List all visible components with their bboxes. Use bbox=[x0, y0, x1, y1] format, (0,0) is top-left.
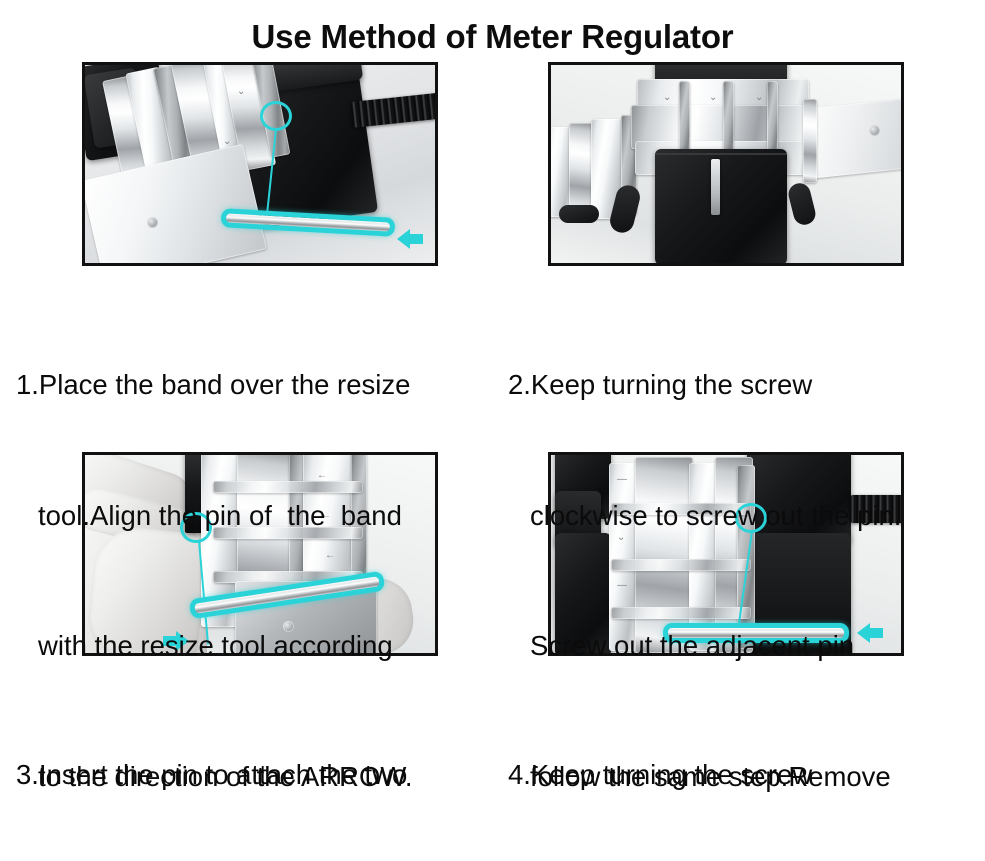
caption-line: 2.Keep turning the screw bbox=[508, 363, 985, 407]
link-stamp: ⌄ bbox=[709, 93, 717, 103]
pin-slot bbox=[711, 159, 720, 215]
link-stamp: ⌄ bbox=[755, 93, 763, 103]
caption-line: tool.Align the pin of the band bbox=[16, 494, 516, 538]
step-2-image: ⌄ ⌄ ⌄ bbox=[548, 62, 904, 266]
page-title: Use Method of Meter Regulator bbox=[0, 18, 985, 56]
tool-foot bbox=[559, 205, 599, 223]
clasp-screw-hole bbox=[147, 217, 158, 228]
caption-line: 4.Keep turning the screw bbox=[508, 753, 985, 797]
step-4-caption: 4.Keep turning the screw clockwise until… bbox=[508, 666, 985, 861]
arrow-tail bbox=[409, 234, 423, 244]
link-stamp: ⌄ bbox=[223, 137, 231, 147]
direction-arrow-left bbox=[397, 229, 423, 249]
caption-line: Screw out the adjacent pin bbox=[508, 624, 985, 668]
link-stamp: ⌄ bbox=[237, 87, 245, 97]
clasp-screw-hole bbox=[869, 125, 880, 136]
clasp-edge bbox=[803, 99, 817, 183]
band-clasp-plate bbox=[806, 98, 901, 179]
pin-highlight-circle bbox=[260, 101, 292, 131]
tool-front-seam bbox=[655, 153, 787, 155]
step-1-image: ⌄ ⌄ bbox=[82, 62, 438, 266]
instruction-sheet: Use Method of Meter Regulator ⌄ ⌄ bbox=[0, 0, 985, 861]
photo-step-2: ⌄ ⌄ ⌄ bbox=[551, 65, 901, 263]
link-stamp: ⌄ bbox=[663, 93, 671, 103]
caption-line: clockwise to screw out the pin. bbox=[508, 494, 985, 538]
caption-line: 1.Place the band over the resize bbox=[16, 363, 516, 407]
tool-front-block bbox=[655, 149, 787, 263]
caption-line: with the resize tool according bbox=[16, 624, 516, 668]
step-3-caption: 3.Insert the pin to attach the two parts… bbox=[16, 666, 516, 861]
photo-step-1: ⌄ ⌄ bbox=[85, 65, 435, 263]
caption-line: 3.Insert the pin to attach the two bbox=[16, 753, 516, 797]
